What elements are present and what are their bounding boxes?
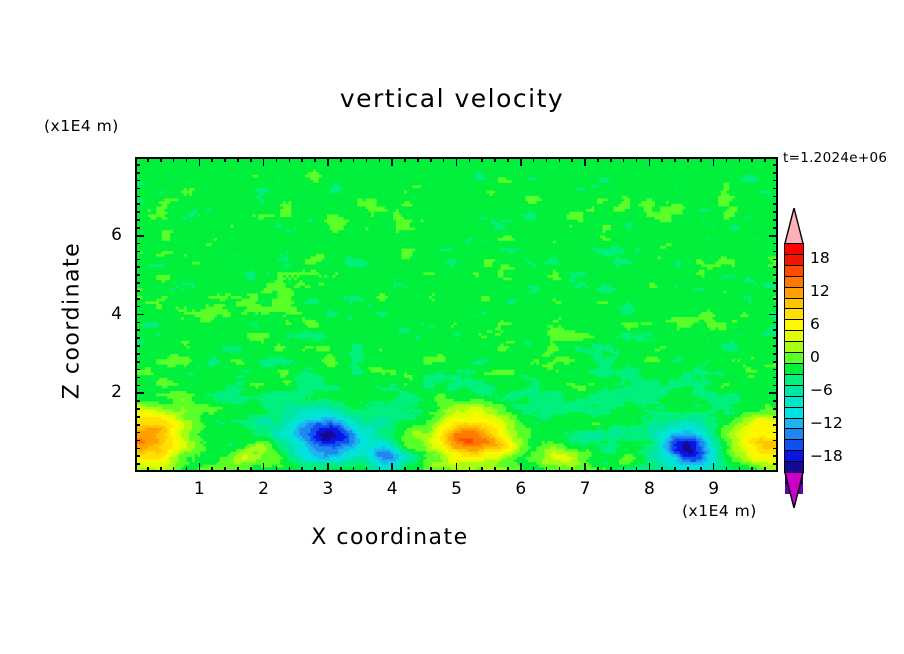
x-tick <box>147 467 149 472</box>
x-tick-label: 2 <box>244 479 284 499</box>
y-tick <box>135 392 144 394</box>
colorbar-band <box>785 440 803 451</box>
x-tick-top <box>571 157 573 162</box>
y-tick-right <box>773 385 778 387</box>
y-tick-right <box>773 219 778 221</box>
x-tick-top <box>481 157 483 162</box>
x-tick <box>199 463 201 472</box>
x-tick-top <box>340 157 342 162</box>
x-tick-top <box>160 157 162 162</box>
colorbar-band <box>785 386 803 397</box>
y-tick-right <box>773 463 778 465</box>
x-axis-unit-label: (x1E4 m) <box>682 502 757 520</box>
colorbar-band <box>785 255 803 266</box>
y-tick-right <box>769 235 778 237</box>
y-tick-label: 4 <box>96 304 122 324</box>
y-tick-right <box>773 416 778 418</box>
x-tick <box>391 463 393 472</box>
y-tick <box>135 440 140 442</box>
y-tick <box>135 164 140 166</box>
y-tick <box>135 259 140 261</box>
x-tick-top <box>250 157 252 162</box>
y-tick-right <box>773 322 778 324</box>
x-tick-top <box>494 157 496 162</box>
x-tick <box>173 467 175 472</box>
y-tick <box>135 227 140 229</box>
y-tick-right <box>773 353 778 355</box>
y-tick-right <box>773 196 778 198</box>
x-tick <box>623 467 625 472</box>
x-tick-top <box>584 157 586 166</box>
x-tick <box>661 467 663 472</box>
x-tick <box>636 467 638 472</box>
y-tick <box>135 298 140 300</box>
y-tick-right <box>773 274 778 276</box>
x-tick-top <box>186 157 188 162</box>
x-tick-top <box>237 157 239 162</box>
x-tick-top <box>597 157 599 162</box>
x-tick <box>417 467 419 472</box>
colorbar-band <box>785 277 803 288</box>
x-tick-top <box>173 157 175 162</box>
x-tick <box>276 467 278 472</box>
x-tick-top <box>353 157 355 162</box>
y-tick-right <box>773 400 778 402</box>
y-tick <box>135 235 144 237</box>
x-tick <box>314 467 316 472</box>
x-tick-top <box>700 157 702 162</box>
y-tick <box>135 172 140 174</box>
y-tick <box>135 180 140 182</box>
y-tick-right <box>769 314 778 316</box>
y-tick <box>135 219 140 221</box>
y-tick-right <box>773 329 778 331</box>
x-tick-top <box>199 157 201 166</box>
x-tick-top <box>546 157 548 162</box>
x-tick <box>700 467 702 472</box>
timestamp-annotation: t=1.2024e+06 <box>783 150 887 166</box>
x-tick-label: 9 <box>694 479 734 499</box>
y-tick <box>135 290 140 292</box>
y-tick-label: 2 <box>96 382 122 402</box>
y-tick <box>135 463 140 465</box>
x-tick <box>494 467 496 472</box>
y-tick <box>135 274 140 276</box>
colorbar-label: 0 <box>810 348 820 366</box>
y-tick <box>135 251 140 253</box>
x-tick <box>713 463 715 472</box>
page-title: vertical velocity <box>0 84 904 113</box>
colorbar-band <box>785 342 803 353</box>
x-tick <box>751 467 753 472</box>
colorbar-band <box>785 419 803 430</box>
x-tick <box>340 467 342 472</box>
x-tick-top <box>661 157 663 162</box>
y-tick <box>135 329 140 331</box>
colorbar-overflow-cap-top <box>784 208 804 244</box>
x-tick-label: 3 <box>308 479 348 499</box>
x-tick-top <box>327 157 329 166</box>
x-tick-top <box>456 157 458 166</box>
x-tick <box>726 467 728 472</box>
x-tick-top <box>379 157 381 162</box>
x-tick <box>289 467 291 472</box>
x-tick-top <box>687 157 689 162</box>
y-tick-right <box>773 448 778 450</box>
y-tick-right <box>773 227 778 229</box>
x-axis-title: X coordinate <box>0 525 780 550</box>
y-tick-label: 6 <box>96 225 122 245</box>
y-tick <box>135 432 140 434</box>
x-tick <box>507 467 509 472</box>
x-tick-top <box>507 157 509 162</box>
y-tick-right <box>769 392 778 394</box>
x-tick-top <box>224 157 226 162</box>
colorbar-band <box>785 320 803 331</box>
x-tick <box>739 467 741 472</box>
x-tick <box>571 467 573 472</box>
x-tick <box>546 467 548 472</box>
colorbar-label: −12 <box>810 414 843 432</box>
y-tick <box>135 188 140 190</box>
x-tick-top <box>623 157 625 162</box>
x-tick <box>224 467 226 472</box>
x-tick <box>186 467 188 472</box>
colorbar-band <box>785 309 803 320</box>
x-tick <box>469 467 471 472</box>
y-tick <box>135 424 140 426</box>
colorbar-label: 12 <box>810 282 830 300</box>
x-tick-top <box>443 157 445 162</box>
x-tick-top <box>391 157 393 166</box>
y-tick <box>135 314 144 316</box>
colorbar-band <box>785 266 803 277</box>
contour-field <box>137 159 776 470</box>
y-tick-right <box>773 188 778 190</box>
x-tick-top <box>301 157 303 162</box>
x-tick-top <box>430 157 432 162</box>
x-tick-top <box>417 157 419 162</box>
x-tick <box>764 467 766 472</box>
x-tick-top <box>764 157 766 162</box>
x-tick-top <box>276 157 278 162</box>
y-tick <box>135 408 140 410</box>
colorbar-band <box>785 244 803 255</box>
x-tick <box>533 467 535 472</box>
y-tick <box>135 369 140 371</box>
colorbar-band <box>785 375 803 386</box>
colorbar-band <box>785 429 803 440</box>
y-tick-right <box>773 251 778 253</box>
y-tick-right <box>773 306 778 308</box>
colorbar-band <box>785 353 803 364</box>
x-tick <box>481 467 483 472</box>
x-tick-label: 6 <box>501 479 541 499</box>
colorbar-band <box>785 397 803 408</box>
x-tick <box>301 467 303 472</box>
x-tick <box>404 467 406 472</box>
y-tick-right <box>773 172 778 174</box>
y-tick <box>135 322 140 324</box>
x-tick-top <box>726 157 728 162</box>
colorbar-band <box>785 299 803 310</box>
y-tick-right <box>773 290 778 292</box>
x-tick <box>379 467 381 472</box>
x-tick-top <box>739 157 741 162</box>
x-tick <box>237 467 239 472</box>
x-tick <box>687 467 689 472</box>
x-tick-top <box>366 157 368 162</box>
x-tick-label: 7 <box>565 479 605 499</box>
x-tick <box>263 463 265 472</box>
y-tick-right <box>773 432 778 434</box>
y-tick-right <box>773 298 778 300</box>
x-tick-top <box>610 157 612 162</box>
y-axis-title: Z coordinate <box>60 191 85 451</box>
colorbar-band <box>785 331 803 342</box>
y-tick-right <box>773 164 778 166</box>
colorbar-bands <box>784 243 804 473</box>
colorbar[interactable] <box>784 208 804 508</box>
x-tick <box>584 463 586 472</box>
y-tick <box>135 337 140 339</box>
y-tick-right <box>773 282 778 284</box>
colorbar-band <box>785 288 803 299</box>
y-tick-right <box>773 266 778 268</box>
x-tick <box>211 467 213 472</box>
figure-canvas: vertical velocity (x1E4 m) t=1.2024e+06 … <box>0 0 904 654</box>
x-tick <box>649 463 651 472</box>
y-tick-right <box>773 369 778 371</box>
x-tick-label: 4 <box>372 479 412 499</box>
y-tick-right <box>773 408 778 410</box>
colorbar-band <box>785 451 803 462</box>
x-tick-label: 8 <box>629 479 669 499</box>
colorbar-band <box>785 408 803 419</box>
y-tick <box>135 196 140 198</box>
x-tick <box>327 463 329 472</box>
x-tick <box>674 467 676 472</box>
x-tick <box>366 467 368 472</box>
x-tick-top <box>533 157 535 162</box>
colorbar-band <box>785 364 803 375</box>
y-tick-right <box>773 377 778 379</box>
y-tick-right <box>773 440 778 442</box>
x-tick-top <box>636 157 638 162</box>
x-tick-top <box>751 157 753 162</box>
x-tick-top <box>211 157 213 162</box>
x-tick <box>160 467 162 472</box>
y-tick <box>135 211 140 213</box>
colorbar-label: 6 <box>810 315 820 333</box>
x-tick <box>456 463 458 472</box>
y-tick <box>135 345 140 347</box>
x-tick <box>250 467 252 472</box>
colorbar-label: −6 <box>810 381 833 399</box>
contour-plot-area[interactable] <box>135 157 778 472</box>
y-axis-unit-label: (x1E4 m) <box>44 117 119 135</box>
colorbar-label: −18 <box>810 447 843 465</box>
y-tick <box>135 400 140 402</box>
y-tick-right <box>773 345 778 347</box>
y-tick <box>135 361 140 363</box>
y-tick <box>135 266 140 268</box>
x-tick-top <box>559 157 561 162</box>
colorbar-label: 18 <box>810 249 830 267</box>
x-tick-top <box>469 157 471 162</box>
colorbar-overflow-cap-bottom <box>784 472 804 508</box>
x-tick-top <box>520 157 522 166</box>
y-tick-right <box>773 243 778 245</box>
y-tick <box>135 455 140 457</box>
x-tick <box>610 467 612 472</box>
y-tick-right <box>773 361 778 363</box>
y-tick <box>135 385 140 387</box>
x-tick <box>430 467 432 472</box>
y-tick-right <box>773 180 778 182</box>
y-tick <box>135 306 140 308</box>
x-tick-top <box>314 157 316 162</box>
y-tick-right <box>773 211 778 213</box>
y-tick <box>135 448 140 450</box>
x-tick <box>353 467 355 472</box>
y-tick <box>135 282 140 284</box>
x-tick-top <box>147 157 149 162</box>
x-tick <box>443 467 445 472</box>
y-tick-right <box>773 337 778 339</box>
y-tick <box>135 353 140 355</box>
x-tick <box>597 467 599 472</box>
x-tick-top <box>289 157 291 162</box>
x-tick <box>559 467 561 472</box>
y-tick-right <box>773 203 778 205</box>
x-tick <box>520 463 522 472</box>
y-tick <box>135 416 140 418</box>
y-tick-right <box>773 259 778 261</box>
y-tick <box>135 377 140 379</box>
x-tick-top <box>263 157 265 166</box>
y-tick-right <box>773 424 778 426</box>
x-tick-label: 5 <box>437 479 477 499</box>
x-tick-top <box>649 157 651 166</box>
x-tick-label: 1 <box>179 479 219 499</box>
x-tick-top <box>404 157 406 162</box>
y-tick <box>135 243 140 245</box>
y-tick-right <box>773 455 778 457</box>
x-tick-top <box>674 157 676 162</box>
y-tick <box>135 203 140 205</box>
x-tick-top <box>713 157 715 166</box>
